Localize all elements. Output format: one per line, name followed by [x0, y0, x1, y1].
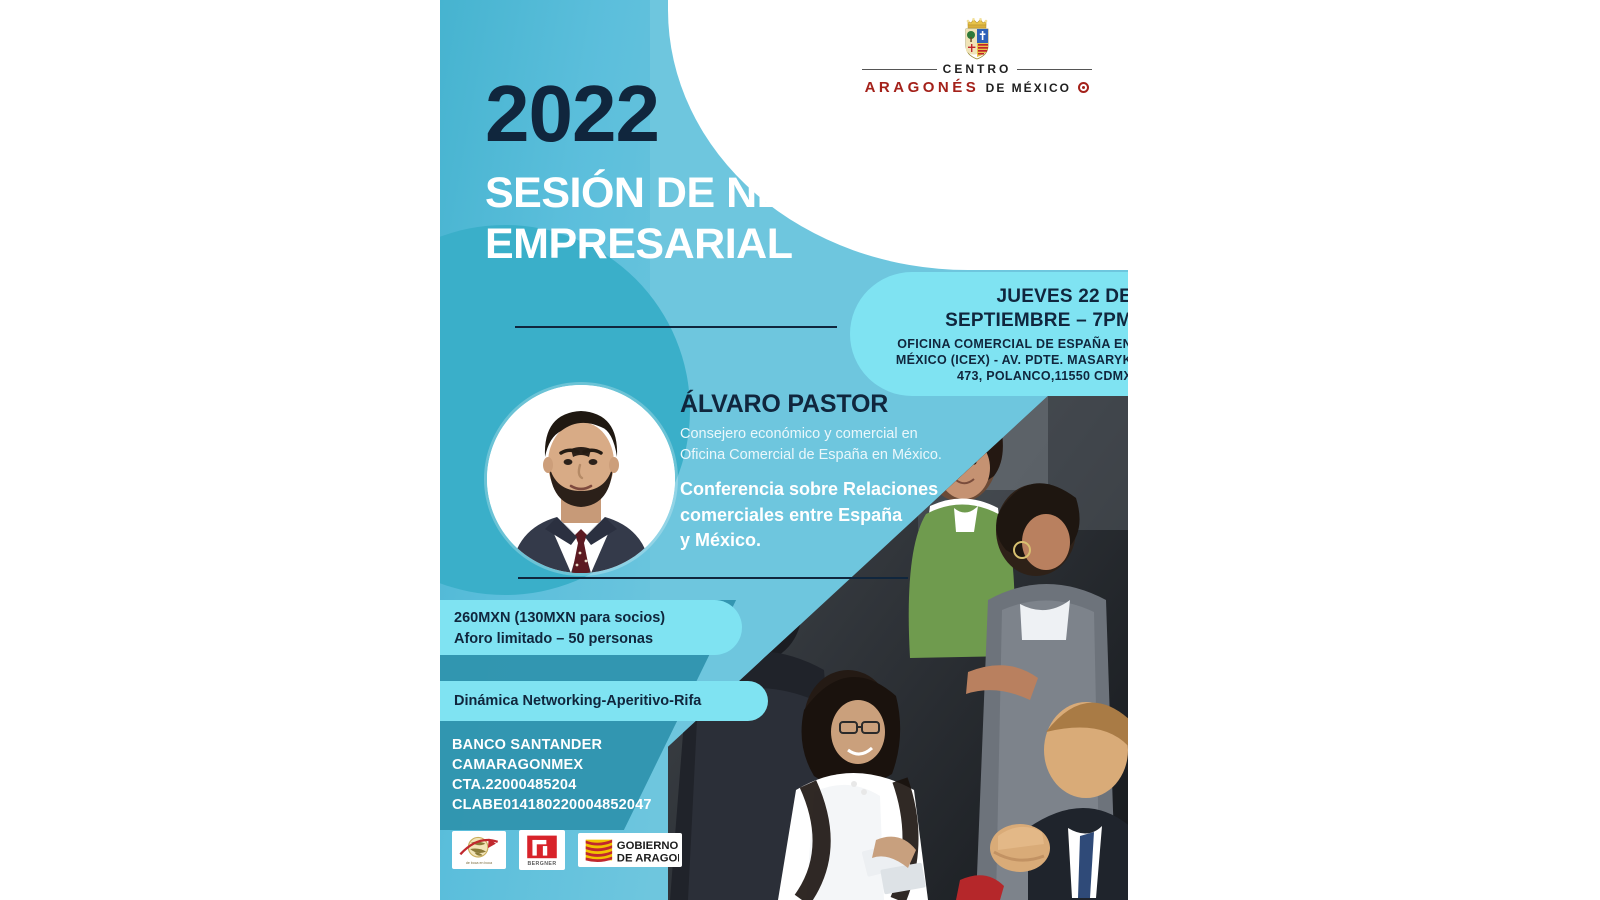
bank-line-2: CAMARAGONMEX [452, 755, 652, 775]
event-poster: CENTRO ARAGONÉS DE MÉXICO 2022 SESIÓN DE… [440, 0, 1128, 900]
de-boca-en-boca-logo: de boca en boca [452, 831, 506, 869]
bank-line-3: CTA.22000485204 [452, 775, 652, 795]
speaker-topic-line-1: Conferencia sobre Relaciones [680, 477, 1025, 503]
svg-text:DE ARAGON: DE ARAGON [617, 852, 679, 864]
divider-top [515, 326, 837, 328]
speaker-name: ÁLVARO PASTOR [680, 390, 1025, 419]
gobierno-de-aragon-logo: GOBIERNO DE ARAGON [578, 833, 682, 867]
title-line-2: EMPRESARIAL [485, 219, 1095, 270]
speaker-topic-line-3: y México. [680, 528, 1025, 554]
logo-rule-right [1017, 69, 1092, 70]
bergner-logo: BERGNER [519, 830, 565, 870]
title-line-1: SESIÓN DE NETWORKING [485, 168, 1095, 219]
logo-seal-icon [1078, 82, 1089, 93]
sponsor-logos: de boca en boca BERGNER [452, 830, 682, 870]
aragon-coat-of-arms-icon [960, 16, 994, 60]
poster-year: 2022 [485, 76, 659, 152]
bank-line-1: BANCO SANTANDER [452, 735, 652, 755]
bank-line-4: CLABE014180220004852047 [452, 795, 652, 815]
svg-text:GOBIERNO: GOBIERNO [617, 840, 679, 852]
divider-middle [518, 577, 908, 579]
speaker-role-line-2: Oficina Comercial de España en México. [680, 445, 1025, 466]
speaker-role-line-1: Consejero económico y comercial en [680, 424, 1025, 445]
price-line-1: 260MXN (130MXN para socios) [454, 608, 728, 629]
page-title: SESIÓN DE NETWORKING EMPRESARIAL [485, 168, 1095, 269]
screenshot-stage: CENTRO ARAGONÉS DE MÉXICO 2022 SESIÓN DE… [0, 0, 1600, 900]
event-date-line-1: JUEVES 22 DE [890, 285, 1128, 309]
event-venue-line-3: 473, POLANCO,11550 CDMX [890, 368, 1128, 384]
svg-text:BERGNER: BERGNER [527, 861, 556, 867]
event-date-badge: JUEVES 22 DE SEPTIEMBRE – 7PM OFICINA CO… [850, 272, 1128, 396]
logo-rule-left [862, 69, 937, 70]
bank-details: BANCO SANTANDER CAMARAGONMEX CTA.2200048… [452, 735, 652, 815]
logo-centro-text: CENTRO [943, 62, 1012, 76]
price-line-2: Aforo limitado – 50 personas [454, 629, 728, 650]
pricing-badge: 260MXN (130MXN para socios) Aforo limita… [440, 600, 742, 655]
svg-text:de boca en boca: de boca en boca [466, 861, 492, 865]
event-date-line-2: SEPTIEMBRE – 7PM [890, 309, 1128, 333]
speaker-topic: Conferencia sobre Relaciones comerciales… [680, 477, 1025, 554]
event-venue-line-1: OFICINA COMERCIAL DE ESPAÑA EN [890, 336, 1128, 352]
speaker-info: ÁLVARO PASTOR Consejero económico y come… [680, 390, 1025, 554]
logo-de-mexico-text: DE MÉXICO [986, 81, 1071, 95]
event-venue-line-2: MÉXICO (ICEX) - AV. PDTE. MASARYK [890, 352, 1128, 368]
dynamic-badge: Dinámica Networking-Aperitivo-Rifa [440, 681, 768, 721]
speaker-topic-line-2: comerciales entre España [680, 503, 1025, 529]
speaker-portrait-avatar [487, 385, 675, 573]
speaker-role: Consejero económico y comercial en Ofici… [680, 424, 1025, 465]
centro-aragones-logo: CENTRO ARAGONÉS DE MÉXICO [862, 16, 1092, 96]
logo-aragones-text: ARAGONÉS [865, 79, 980, 96]
